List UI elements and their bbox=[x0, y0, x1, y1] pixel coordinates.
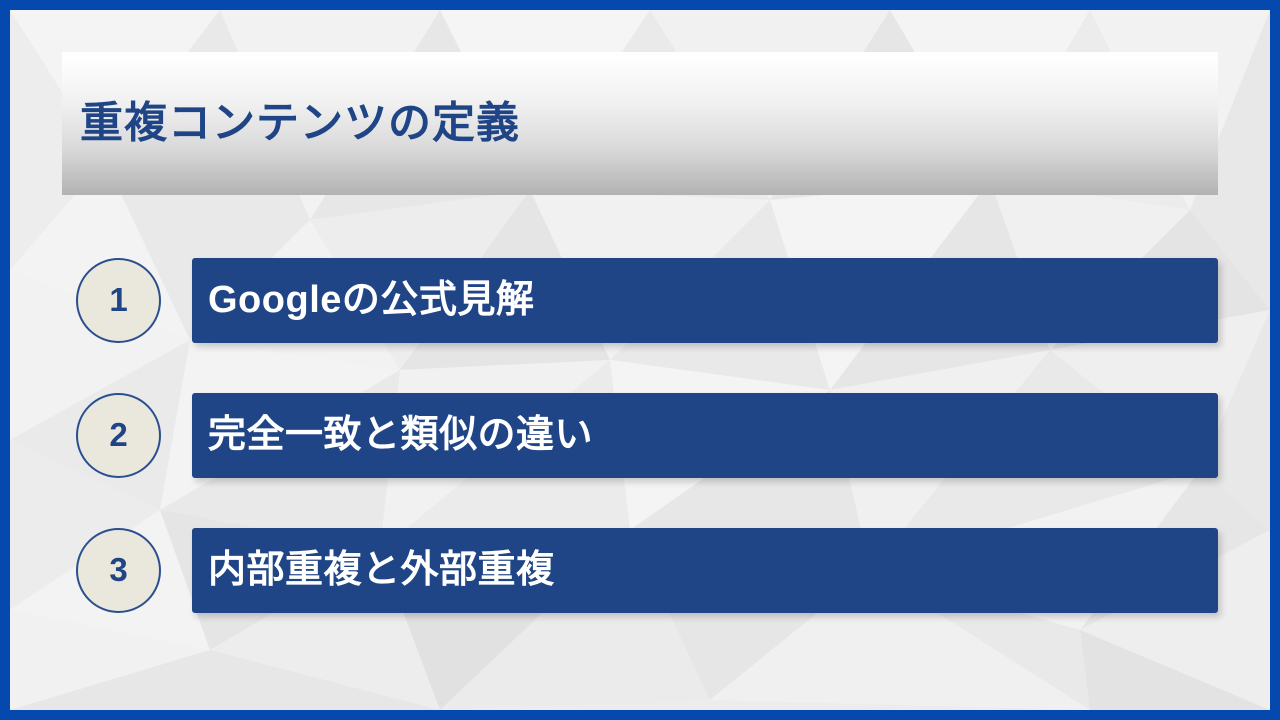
list-item-label: Googleの公式見解 bbox=[192, 280, 534, 322]
list-item[interactable]: 3 内部重複と外部重複 bbox=[10, 528, 1270, 613]
slide-frame: 重複コンテンツの定義 1 Googleの公式見解 2 完全一致と類似の違い bbox=[0, 0, 1280, 720]
list-item-number: 3 bbox=[109, 553, 127, 586]
page-title: 重複コンテンツの定義 bbox=[80, 100, 520, 147]
list-item-number-badge: 2 bbox=[76, 393, 161, 478]
list-item-bar[interactable]: 完全一致と類似の違い bbox=[192, 393, 1218, 478]
numbered-list: 1 Googleの公式見解 2 完全一致と類似の違い 3 内 bbox=[10, 258, 1270, 613]
list-item[interactable]: 1 Googleの公式見解 bbox=[10, 258, 1270, 343]
list-item-number: 1 bbox=[109, 283, 127, 316]
slide-canvas: 重複コンテンツの定義 1 Googleの公式見解 2 完全一致と類似の違い bbox=[10, 10, 1270, 710]
list-item-number-badge: 3 bbox=[76, 528, 161, 613]
title-band: 重複コンテンツの定義 bbox=[62, 52, 1218, 195]
list-item[interactable]: 2 完全一致と類似の違い bbox=[10, 393, 1270, 478]
list-item-bar[interactable]: 内部重複と外部重複 bbox=[192, 528, 1218, 613]
list-item-label: 完全一致と類似の違い bbox=[192, 415, 593, 457]
list-item-label: 内部重複と外部重複 bbox=[192, 550, 555, 592]
list-item-number: 2 bbox=[109, 418, 127, 451]
list-item-bar[interactable]: Googleの公式見解 bbox=[192, 258, 1218, 343]
list-item-number-badge: 1 bbox=[76, 258, 161, 343]
